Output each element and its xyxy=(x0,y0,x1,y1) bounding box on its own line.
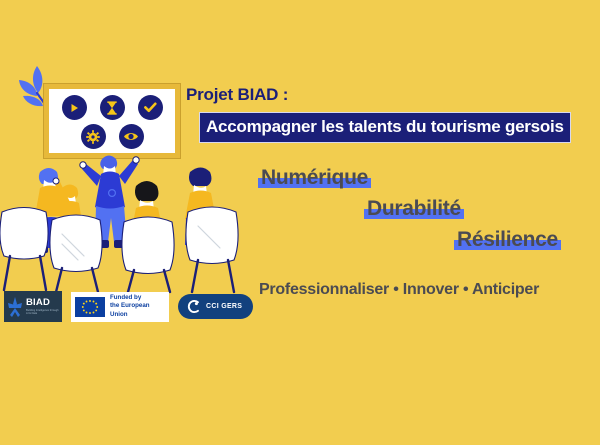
eye-icon xyxy=(119,124,144,149)
keyword-label: Numérique xyxy=(258,166,371,189)
keyword-label: Durabilité xyxy=(364,197,464,220)
eu-logo-line2: the European Union xyxy=(110,302,165,318)
whiteboard xyxy=(44,84,180,158)
cci-gers-label: CCI GERS xyxy=(206,303,242,310)
headline-block: Projet BIAD : Accompagner les talents du… xyxy=(186,86,571,143)
play-icon xyxy=(62,95,87,120)
biad-logo-text: BIAD Building Intelligence through AI & … xyxy=(26,298,59,315)
headline-banner-label: Accompagner les talents du tourisme gers… xyxy=(206,117,564,136)
whiteboard-row-2 xyxy=(49,120,175,149)
biad-mark-icon xyxy=(7,296,23,318)
whiteboard-row-1 xyxy=(49,89,175,120)
tagline: Professionnaliser • Innover • Anticiper xyxy=(259,281,539,299)
biad-logo: BIAD Building Intelligence through AI & … xyxy=(4,291,62,322)
keyword-numerique: Numérique xyxy=(258,166,371,190)
keyword-label: Résilience xyxy=(454,228,561,251)
eu-logo-line1: Funded by xyxy=(110,294,165,302)
keyword-list: Numérique Durabilité Résilience xyxy=(258,166,600,259)
logo-strip: BIAD Building Intelligence through AI & … xyxy=(4,291,253,322)
keyword-row: Résilience xyxy=(258,228,600,259)
keyword-resilience: Résilience xyxy=(454,228,561,252)
eu-logo-text: Funded by the European Union xyxy=(110,294,165,319)
cci-monogram-icon xyxy=(186,299,201,314)
keyword-row: Durabilité xyxy=(258,197,600,228)
training-workshop-illustration xyxy=(0,150,252,295)
biad-logo-name: BIAD xyxy=(26,298,59,308)
poster-canvas: Projet BIAD : Accompagner les talents du… xyxy=(0,0,600,445)
cci-gers-logo: CCI GERS xyxy=(178,294,253,319)
headline-banner: Accompagner les talents du tourisme gers… xyxy=(199,112,571,143)
biad-logo-subtitle: Building Intelligence through AI & Data xyxy=(26,309,59,315)
european-union-logo: Funded by the European Union xyxy=(71,292,169,322)
project-title: Projet BIAD : xyxy=(186,86,571,103)
check-icon xyxy=(138,95,163,120)
keyword-row: Numérique xyxy=(258,166,600,197)
gear-icon xyxy=(81,124,106,149)
hourglass-icon xyxy=(100,95,125,120)
keyword-durabilite: Durabilité xyxy=(364,197,464,221)
eu-flag-icon xyxy=(75,297,105,317)
